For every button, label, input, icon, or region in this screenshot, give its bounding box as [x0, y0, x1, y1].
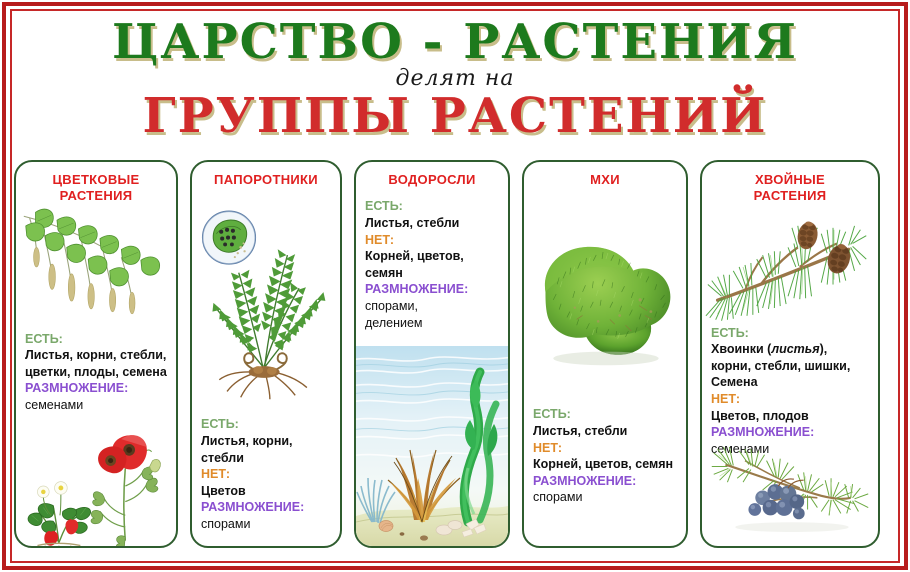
- value-has: Листья, корни, стебли: [201, 433, 331, 466]
- title-plant-groups: ГРУППЫ РАСТЕНИЙ: [14, 92, 896, 141]
- value-reproduction-line2: делением: [365, 315, 499, 332]
- value-has: Листья, стебли: [533, 423, 677, 440]
- moss-clump-photo: [524, 188, 686, 400]
- card-title-line1: ВОДОРОСЛИ: [360, 172, 504, 188]
- label-has-not: НЕТ:: [365, 232, 499, 249]
- card-title-ferns: ПАПОРОТНИКИ: [192, 162, 340, 188]
- value-has-line1-b: ),: [820, 342, 828, 356]
- poster-title-block: ЦАРСТВО - РАСТЕНИЯ делят на ГРУППЫ РАСТЕ…: [14, 14, 896, 152]
- juniper-branch-with-berries-illustration: [702, 436, 878, 542]
- value-reproduction: спорами: [533, 489, 677, 506]
- label-has: ЕСТЬ:: [365, 198, 499, 215]
- card-flowering-plants[interactable]: ЦВЕТКОВЫЕ РАСТЕНИЯ: [14, 160, 178, 548]
- label-has: ЕСТЬ:: [711, 325, 869, 342]
- label-has: ЕСТЬ:: [201, 416, 331, 433]
- label-reproduction: РАЗМНОЖЕНИЕ:: [533, 473, 677, 490]
- label-has-not: НЕТ:: [533, 440, 677, 457]
- strawberry-and-poppy-illustration: [16, 416, 176, 548]
- value-has-line2: корни, стебли, шишки,: [711, 358, 869, 375]
- value-has: Листья, стебли: [365, 215, 499, 232]
- value-has-line1-a: Хвоинки (: [711, 342, 771, 356]
- card-algae[interactable]: ВОДОРОСЛИ ЕСТЬ: Листья, стебли НЕТ: Корн…: [354, 160, 510, 548]
- value-has-not: Цветов, плодов: [711, 408, 869, 425]
- value-has-line1: Хвоинки (листья),: [711, 341, 869, 358]
- card-title-conifers: ХВОЙНЫЕ РАСТЕНИЯ: [702, 162, 878, 205]
- spec-algae: ЕСТЬ: Листья, стебли НЕТ: Корней, цветов…: [356, 188, 508, 331]
- label-has-not: НЕТ:: [201, 466, 331, 483]
- fern-with-spore-magnifier-illustration: [192, 188, 340, 406]
- card-title-line1: ЦВЕТКОВЫЕ: [20, 172, 172, 188]
- title-kingdom-plants: ЦАРСТВО - РАСТЕНИЯ: [14, 18, 896, 67]
- pine-branch-with-cones-illustration: [702, 205, 878, 323]
- value-has-not: Цветов: [201, 483, 331, 500]
- card-title-line2: РАСТЕНИЯ: [706, 188, 874, 204]
- value-reproduction-line1: спорами,: [365, 298, 499, 315]
- value-has-line2: цветки, плоды, семена: [25, 364, 167, 381]
- label-has-not: НЕТ:: [711, 391, 869, 408]
- spore-magnifier-detail: [203, 212, 256, 265]
- value-has-line3: Семена: [711, 374, 869, 391]
- spec-ferns: ЕСТЬ: Листья, корни, стебли НЕТ: Цветов …: [192, 406, 340, 532]
- label-reproduction: РАЗМНОЖЕНИЕ:: [25, 380, 167, 397]
- card-ferns[interactable]: ПАПОРОТНИКИ: [190, 160, 342, 548]
- card-title-line1: МХИ: [528, 172, 682, 188]
- label-has: ЕСТЬ:: [533, 406, 677, 423]
- title-connector-text: делят на: [14, 68, 896, 90]
- plant-group-card-row: ЦВЕТКОВЫЕ РАСТЕНИЯ: [14, 160, 896, 548]
- spec-flowering-plants: ЕСТЬ: Листья, корни, стебли, цветки, пло…: [16, 327, 176, 414]
- card-title-flowering-plants: ЦВЕТКОВЫЕ РАСТЕНИЯ: [16, 162, 176, 205]
- value-reproduction: спорами: [201, 516, 331, 533]
- value-has-line1-em: листья: [771, 342, 819, 356]
- spec-mosses: ЕСТЬ: Листья, стебли НЕТ: Корней, цветов…: [524, 400, 686, 506]
- value-has-not: Корней, цветов, семян: [365, 248, 499, 281]
- card-title-line1: ПАПОРОТНИКИ: [196, 172, 336, 188]
- card-mosses[interactable]: МХИ: [522, 160, 688, 548]
- value-reproduction: семенами: [25, 397, 167, 414]
- poster-root: ЦАРСТВО - РАСТЕНИЯ делят на ГРУППЫ РАСТЕ…: [0, 0, 910, 572]
- label-reproduction: РАЗМНОЖЕНИЕ:: [201, 499, 331, 516]
- label-has: ЕСТЬ:: [25, 331, 167, 348]
- value-has-not: Корней, цветов, семян: [533, 456, 677, 473]
- card-title-algae: ВОДОРОСЛИ: [356, 162, 508, 188]
- card-title-mosses: МХИ: [524, 162, 686, 188]
- birch-catkin-branch-illustration: [16, 205, 176, 327]
- card-conifers[interactable]: ХВОЙНЫЕ РАСТЕНИЯ: [700, 160, 880, 548]
- value-has-line1: Листья, корни, стебли,: [25, 347, 167, 364]
- underwater-algae-seaweed-illustration: [356, 346, 508, 546]
- label-reproduction: РАЗМНОЖЕНИЕ:: [365, 281, 499, 298]
- card-title-line2: РАСТЕНИЯ: [20, 188, 172, 204]
- card-title-line1: ХВОЙНЫЕ: [706, 172, 874, 188]
